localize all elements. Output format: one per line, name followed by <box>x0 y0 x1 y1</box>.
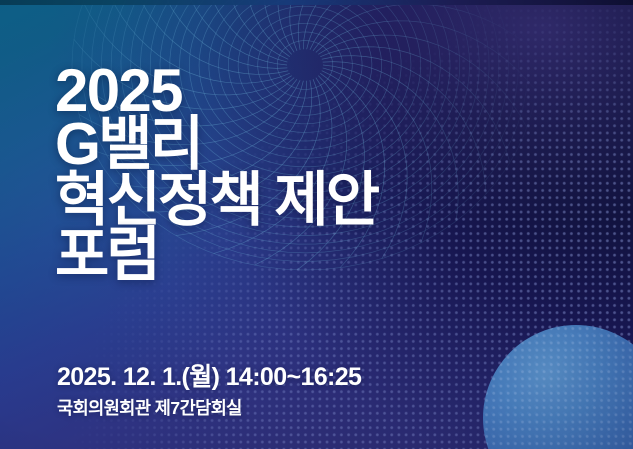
headline-title-line1: 혁신정책 제안 <box>55 172 377 228</box>
event-details: 2025. 12. 1.(월) 14:00~16:25 국회의원회관 제7간담회… <box>57 364 361 419</box>
headline-brand: G밸리 <box>55 116 377 172</box>
headline-block: 2025 G밸리 혁신정책 제안 포럼 <box>55 62 377 283</box>
event-poster: 2025 G밸리 혁신정책 제안 포럼 2025. 12. 1.(월) 14:0… <box>0 0 633 449</box>
event-venue: 국회의원회관 제7간담회실 <box>57 398 361 419</box>
poster-content: 2025 G밸리 혁신정책 제안 포럼 2025. 12. 1.(월) 14:0… <box>0 0 633 449</box>
headline-title-line2: 포럼 <box>55 227 377 283</box>
event-date-time: 2025. 12. 1.(월) 14:00~16:25 <box>57 364 361 392</box>
